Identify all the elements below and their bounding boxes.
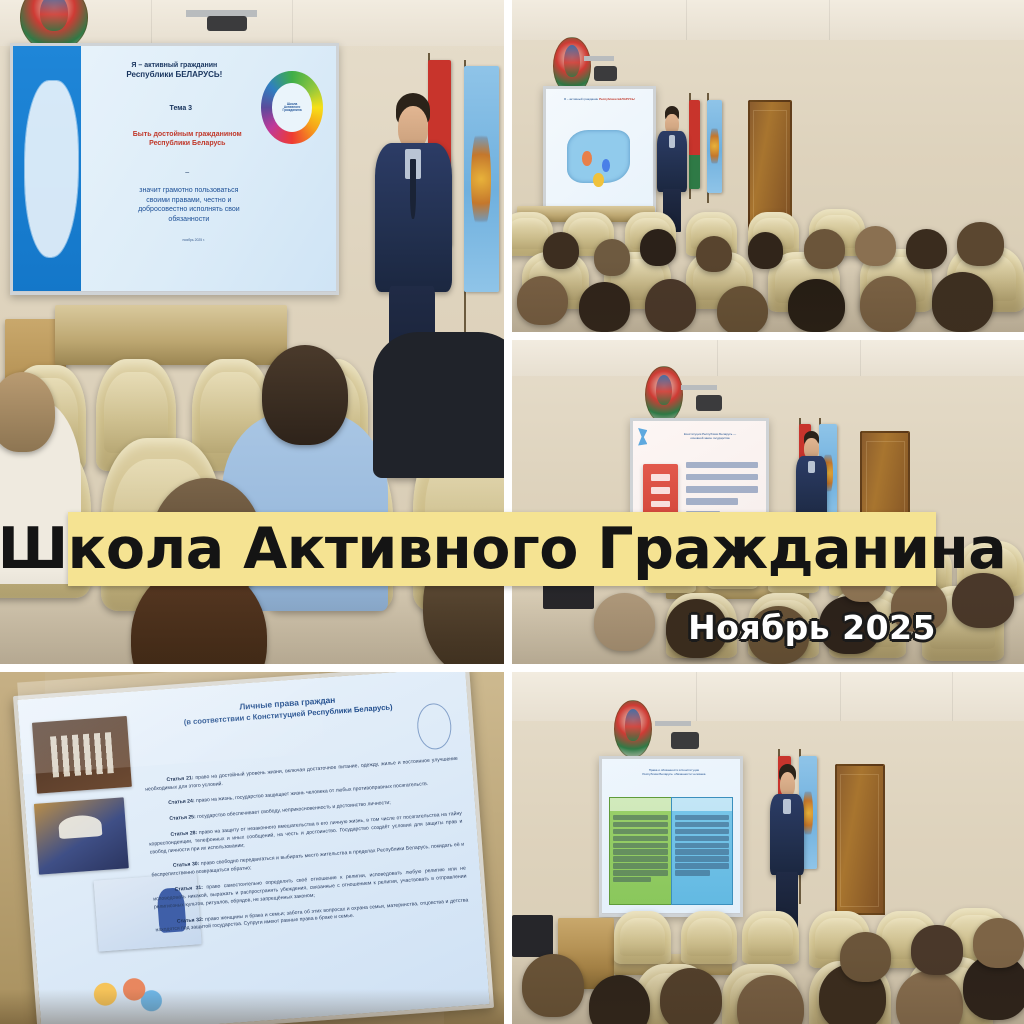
page-title: Школа Активного Гражданина bbox=[0, 521, 1006, 578]
audience-head bbox=[262, 345, 348, 445]
slide-map: Я – активный гражданин Республики БЕЛАРУ… bbox=[546, 89, 654, 209]
seal-icon bbox=[416, 702, 453, 750]
protection-hands-illustration bbox=[34, 797, 129, 874]
slide-topic-blue-2: своими правами, честно и bbox=[84, 196, 294, 205]
projector-icon bbox=[671, 732, 699, 750]
article-num: Статья 21: bbox=[167, 775, 194, 783]
slide-topic-red-2: Республики Беларусь bbox=[90, 139, 284, 148]
duties-column bbox=[671, 797, 734, 905]
projection-screen: Личные права граждан (в соответствии с К… bbox=[13, 672, 494, 1024]
prosecutor-flag-icon bbox=[707, 100, 722, 193]
belarus-flag-icon bbox=[689, 100, 700, 190]
slide-topic-blue-4: обязанности bbox=[84, 215, 294, 224]
slide-title: Я – активный гражданин Республики БЕЛАРУ… bbox=[13, 46, 336, 292]
rights-column bbox=[609, 797, 672, 905]
article-num: Статья 30: bbox=[173, 861, 200, 869]
panel-bottom-right: Права и обязанности в Конституции Респуб… bbox=[512, 672, 1024, 1024]
slide-table: Права и обязанности в Конституции Респуб… bbox=[602, 759, 740, 914]
slide-topic-red-1: Быть достойным гражданином bbox=[90, 130, 284, 139]
slide-dash: – bbox=[90, 169, 284, 176]
gutter-horizontal bbox=[0, 664, 1024, 672]
slide-topic-blue-1: значит грамотно пользоваться bbox=[84, 186, 294, 195]
olympic-emblem-icon bbox=[917, 23, 1004, 182]
panel-bottom-left: Личные права граждан (в соответствии с К… bbox=[0, 672, 504, 1024]
slide-rights: Личные права граждан (в соответствии с К… bbox=[17, 672, 489, 1024]
school-active-citizen-logo: Школа Активного Гражданина bbox=[261, 71, 322, 145]
slide-date: ноябрь 2025 г. bbox=[110, 238, 278, 242]
title-banner: Школа Активного Гражданина bbox=[68, 512, 936, 586]
projection-screen: Я – активный гражданин Республики БЕЛАРУ… bbox=[10, 43, 339, 295]
article-num: Статья 28: bbox=[171, 830, 198, 838]
projection-screen: Права и обязанности в Конституции Респуб… bbox=[599, 756, 743, 917]
gutter-horizontal-right-upper bbox=[504, 332, 1024, 340]
slide-map-heading-2: Республики БЕЛАРУСЬ! bbox=[599, 97, 635, 101]
slide-topic-label: Тема 3 bbox=[97, 105, 265, 112]
slide-topic-blue-3: добросовестно исполнять свои bbox=[84, 205, 294, 214]
projection-screen: Я – активный гражданин Республики БЕЛАРУ… bbox=[543, 86, 657, 212]
front-desk bbox=[55, 305, 287, 365]
logo-line3: Гражданина bbox=[283, 109, 302, 112]
projector-icon bbox=[594, 66, 617, 81]
slide-title-line2: Республики БЕЛАРУСЬ! bbox=[97, 70, 252, 81]
slide-constitution-heading-2: основной закон государства bbox=[662, 436, 758, 440]
projector-icon bbox=[207, 16, 247, 31]
door bbox=[835, 764, 885, 916]
photo-collage: Я – активный гражданин Республики БЕЛАРУ… bbox=[0, 0, 1024, 1024]
speaker-person bbox=[768, 764, 806, 933]
article-num: Статья 25: bbox=[169, 814, 196, 822]
article-num: Статья 24: bbox=[168, 799, 195, 807]
projector-icon bbox=[696, 395, 722, 411]
courthouse-illustration bbox=[33, 716, 132, 794]
article-num: Статья 31: bbox=[175, 885, 204, 893]
prosecutor-flag-icon bbox=[464, 66, 499, 292]
belarus-coat-of-arms-icon bbox=[645, 366, 683, 423]
slide-map-heading-1: Я – активный гражданин bbox=[564, 97, 598, 101]
date-badge: Ноябрь 2025 bbox=[688, 608, 936, 647]
panel-top-right: Я – активный гражданин Республики БЕЛАРУ… bbox=[512, 0, 1024, 332]
slide-table-heading-2: Республики Беларусь: обязанности человек… bbox=[616, 773, 732, 777]
slide-title-line1: Я – активный гражданин bbox=[97, 61, 252, 70]
